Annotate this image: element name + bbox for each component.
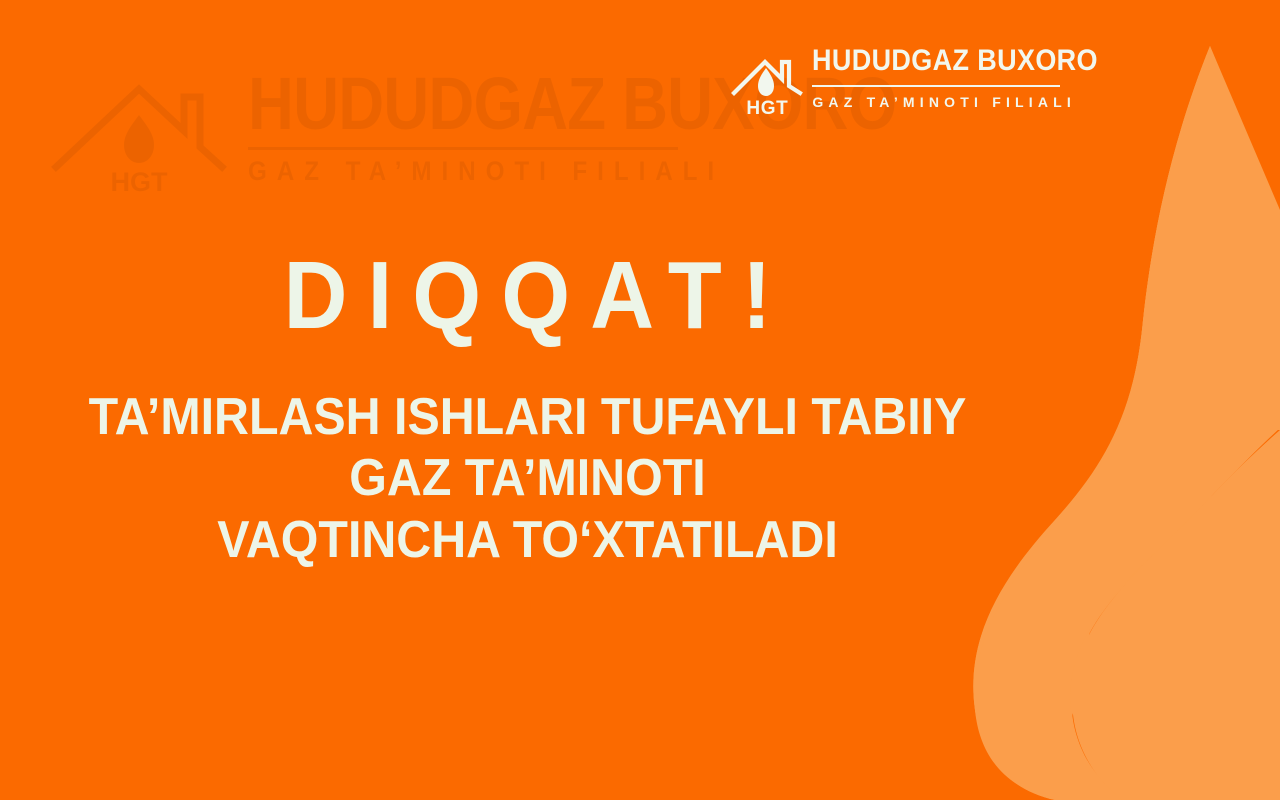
brand-divider — [812, 85, 1060, 87]
headline: DIQQAT! — [42, 246, 1013, 347]
announcement-body-line-1: TA’MIRLASH ISHLARI TUFAYLI TABIIY GAZ TA… — [37, 387, 1018, 510]
announcement-poster: HGT HUDUDGAZ BUXORO GAZ TA’MINOTI FILIAL… — [0, 0, 1280, 800]
announcement-body-line-2: VAQTINCHA TO‘XTATILADI — [37, 510, 1018, 571]
brand-title: HUDUDGAZ BUXORO — [812, 46, 1098, 76]
watermark-subtitle: GAZ TA’MINOTI FILIALI — [248, 156, 926, 187]
announcement-body: TA’MIRLASH ISHLARI TUFAYLI TABIIY GAZ TA… — [37, 387, 1018, 571]
watermark-divider — [248, 147, 678, 150]
brand-logo: HGT HUDUDGAZ BUXORO GAZ TA’MINOTI FILIAL… — [730, 34, 1130, 118]
logo-watermark: HGT HUDUDGAZ BUXORO GAZ TA’MINOTI FILIAL… — [44, 58, 784, 198]
brand-mark-label: HGT — [730, 99, 804, 118]
house-flame-icon: HGT — [730, 37, 804, 115]
svg-text:HGT: HGT — [111, 167, 169, 193]
watermark-house-flame-icon: HGT — [44, 63, 234, 193]
announcement-message: DIQQAT! TA’MIRLASH ISHLARI TUFAYLI TABII… — [0, 246, 1055, 571]
brand-subtitle: GAZ TA’MINOTI FILIALI — [812, 95, 1060, 109]
